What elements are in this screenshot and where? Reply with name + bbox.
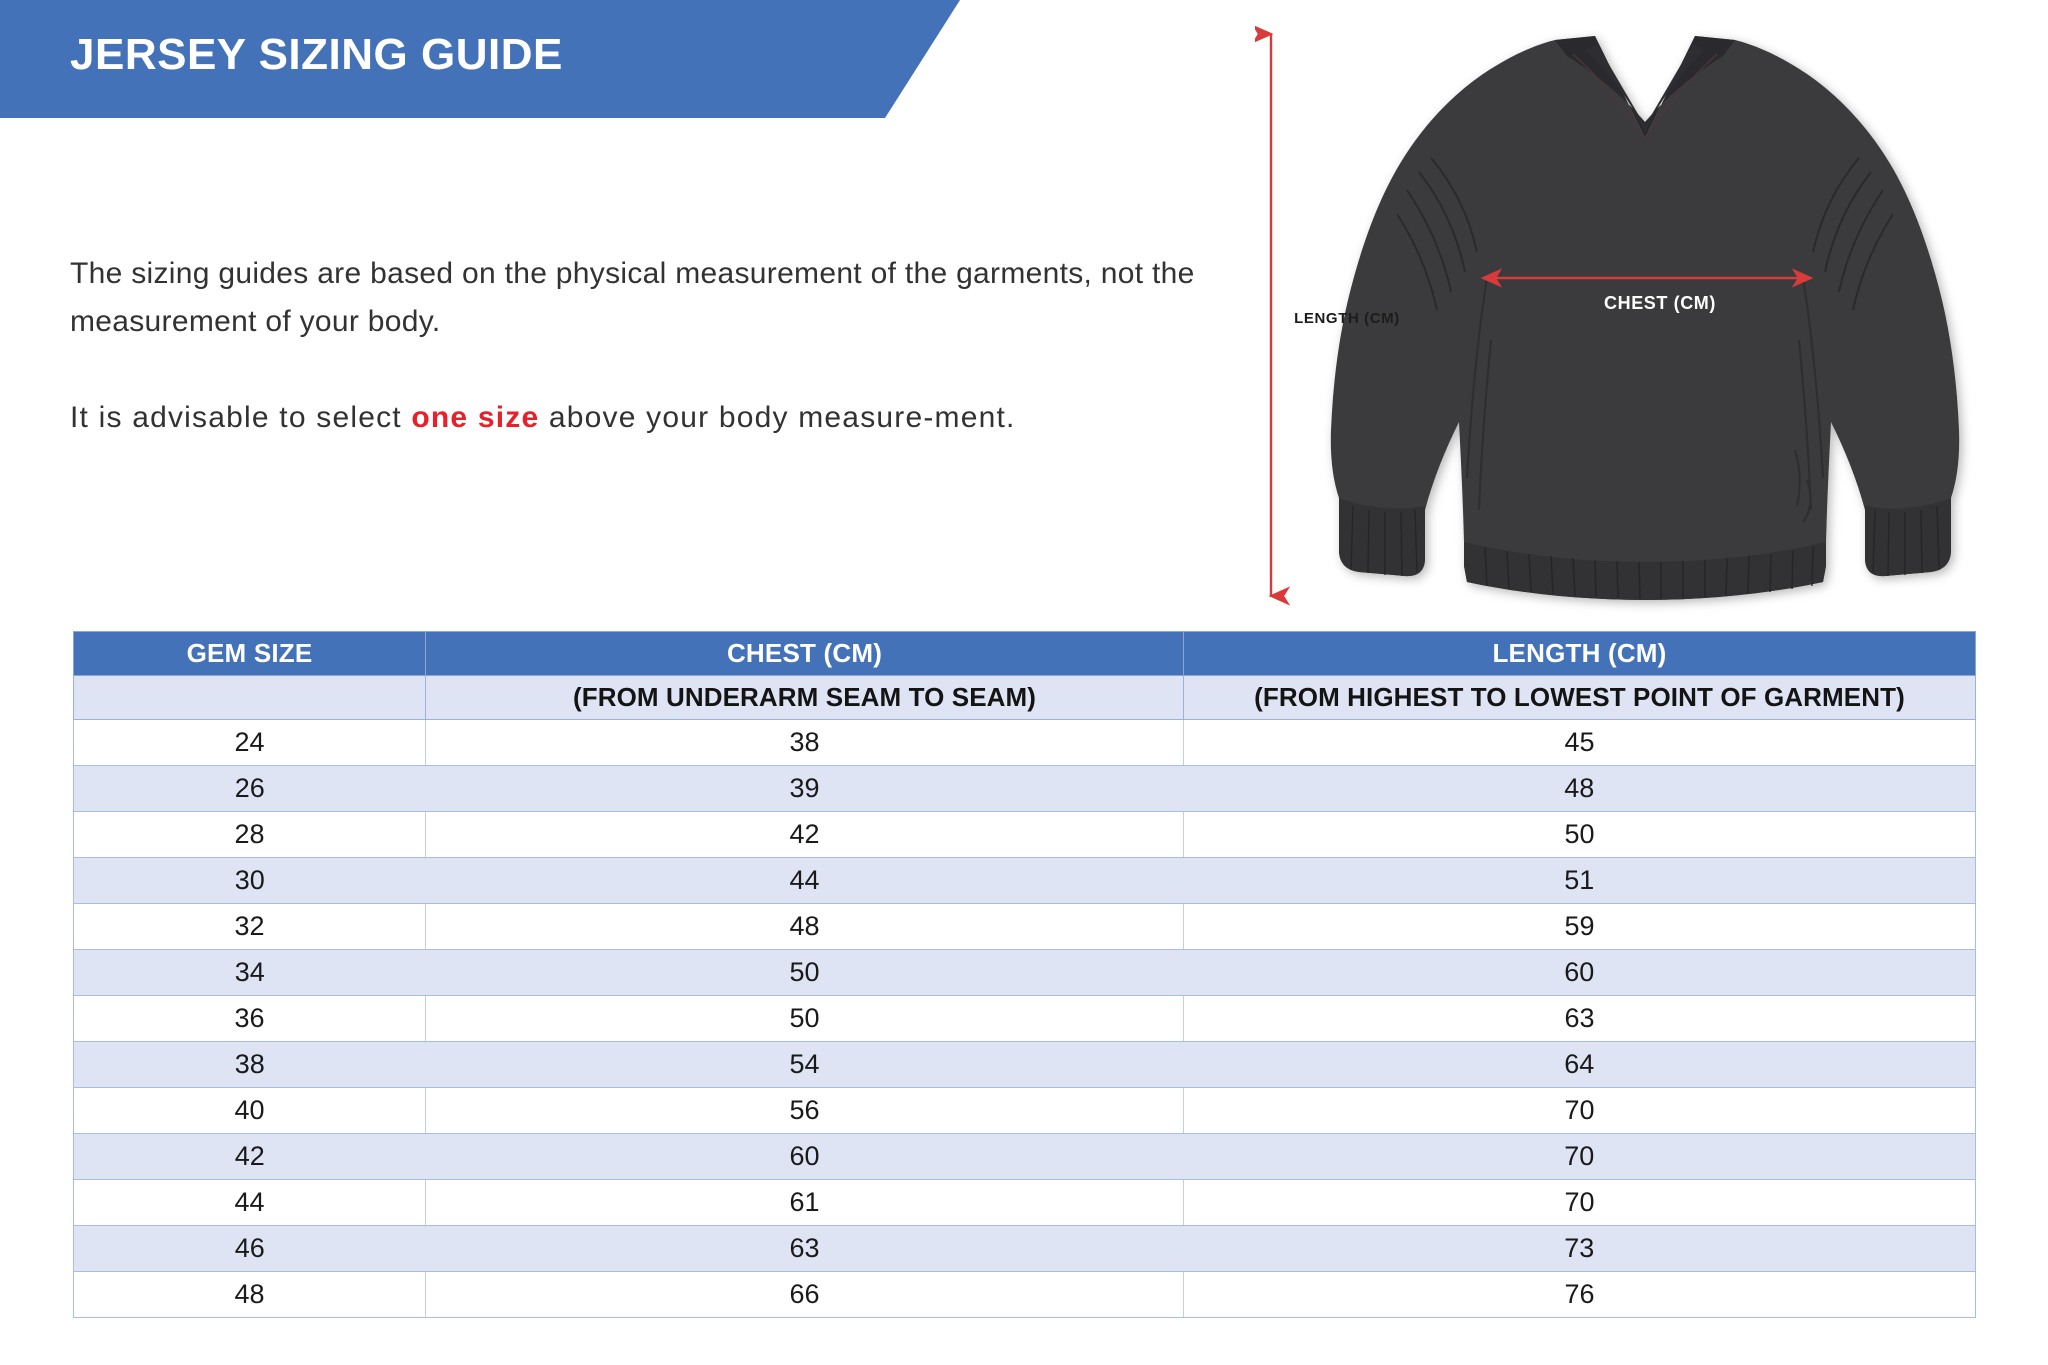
cell-chest: 63 (426, 1226, 1184, 1272)
cell-chest: 60 (426, 1134, 1184, 1180)
cell-chest: 42 (426, 812, 1184, 858)
cell-chest: 38 (426, 720, 1184, 766)
table-header-row: GEM SIZE CHEST (CM) LENGTH (CM) (74, 632, 1976, 676)
cell-size: 44 (74, 1180, 426, 1226)
cell-chest: 66 (426, 1272, 1184, 1318)
table-row: 486676 (74, 1272, 1976, 1318)
table-row: 345060 (74, 950, 1976, 996)
column-subheader-chest: (FROM UNDERARM SEAM TO SEAM) (426, 676, 1184, 720)
cell-length: 70 (1184, 1088, 1976, 1134)
table-subheader-row: (FROM UNDERARM SEAM TO SEAM) (FROM HIGHE… (74, 676, 1976, 720)
length-measurement-label: LENGTH (CM) (1277, 310, 1417, 327)
cell-length: 70 (1184, 1134, 1976, 1180)
cell-size: 42 (74, 1134, 426, 1180)
cell-length: 60 (1184, 950, 1976, 996)
chest-measurement-label: CHEST (CM) (1510, 293, 1810, 314)
table-row: 385464 (74, 1042, 1976, 1088)
cell-size: 26 (74, 766, 426, 812)
table-row: 243845 (74, 720, 1976, 766)
cell-length: 73 (1184, 1226, 1976, 1272)
cell-chest: 44 (426, 858, 1184, 904)
garment-illustration: LENGTH (CM) CHEST (CM) (1255, 10, 2035, 620)
cell-length: 48 (1184, 766, 1976, 812)
page-title: JERSEY SIZING GUIDE (70, 26, 563, 84)
cell-chest: 54 (426, 1042, 1184, 1088)
cell-chest: 61 (426, 1180, 1184, 1226)
table-row: 426070 (74, 1134, 1976, 1180)
column-header-chest: CHEST (CM) (426, 632, 1184, 676)
table-row: 365063 (74, 996, 1976, 1042)
cell-size: 48 (74, 1272, 426, 1318)
cell-size: 40 (74, 1088, 426, 1134)
cell-length: 63 (1184, 996, 1976, 1042)
cell-size: 32 (74, 904, 426, 950)
cell-size: 36 (74, 996, 426, 1042)
one-size-emphasis: one size (411, 401, 539, 434)
size-chart-table: GEM SIZE CHEST (CM) LENGTH (CM) (FROM UN… (73, 631, 1976, 1318)
table-head: GEM SIZE CHEST (CM) LENGTH (CM) (FROM UN… (74, 632, 1976, 720)
cell-size: 38 (74, 1042, 426, 1088)
table-row: 263948 (74, 766, 1976, 812)
intro-text-before: It is advisable to select (70, 401, 411, 434)
cell-chest: 50 (426, 950, 1184, 996)
cell-chest: 39 (426, 766, 1184, 812)
intro-block: The sizing guides are based on the physi… (70, 250, 1210, 442)
cell-length: 76 (1184, 1272, 1976, 1318)
cell-chest: 50 (426, 996, 1184, 1042)
table-row: 405670 (74, 1088, 1976, 1134)
table-row: 284250 (74, 812, 1976, 858)
intro-paragraph-2: It is advisable to select one size above… (70, 394, 1210, 442)
table-row: 466373 (74, 1226, 1976, 1272)
cell-length: 45 (1184, 720, 1976, 766)
cell-size: 28 (74, 812, 426, 858)
table-body: 2438452639482842503044513248593450603650… (74, 720, 1976, 1318)
cell-length: 70 (1184, 1180, 1976, 1226)
table-row: 304451 (74, 858, 1976, 904)
table-row: 446170 (74, 1180, 1976, 1226)
cell-size: 30 (74, 858, 426, 904)
cell-length: 64 (1184, 1042, 1976, 1088)
cell-chest: 48 (426, 904, 1184, 950)
table-row: 324859 (74, 904, 1976, 950)
cell-size: 46 (74, 1226, 426, 1272)
intro-text-after: above your body measure-ment. (539, 401, 1015, 434)
intro-paragraph-1: The sizing guides are based on the physi… (70, 250, 1210, 346)
column-header-length: LENGTH (CM) (1184, 632, 1976, 676)
cell-length: 51 (1184, 858, 1976, 904)
cell-size: 24 (74, 720, 426, 766)
cell-length: 50 (1184, 812, 1976, 858)
column-subheader-length: (FROM HIGHEST TO LOWEST POINT OF GARMENT… (1184, 676, 1976, 720)
column-header-size: GEM SIZE (74, 632, 426, 676)
cell-length: 59 (1184, 904, 1976, 950)
column-subheader-size (74, 676, 426, 720)
garment-shape (1331, 36, 1959, 600)
cell-size: 34 (74, 950, 426, 996)
cell-chest: 56 (426, 1088, 1184, 1134)
